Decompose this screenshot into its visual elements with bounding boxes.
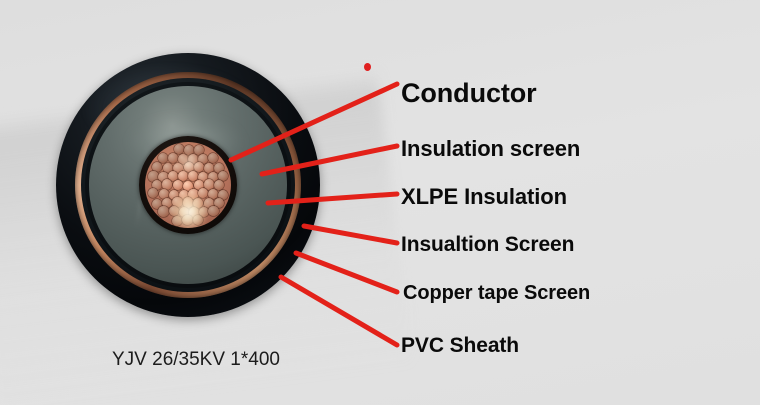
label-xlpe-insulation: XLPE Insulation: [401, 184, 567, 210]
figure-canvas: Conductor Insulation screen XLPE Insulat…: [0, 0, 760, 405]
conductor-strand: [168, 153, 178, 163]
conductor-strand: [173, 180, 183, 190]
figure-caption: YJV 26/35KV 1*400: [112, 349, 280, 371]
stray-red-dot-marker: [364, 63, 371, 71]
conductor-strand: [148, 188, 158, 198]
conductor-strand: [158, 153, 168, 163]
cable-cross-section-image: [56, 53, 320, 317]
conductor-strand: [208, 206, 218, 216]
label-copper-tape-screen: Copper tape Screen: [403, 282, 590, 305]
label-conductor: Conductor: [401, 78, 537, 109]
label-insulation-screen: Insulation screen: [401, 136, 580, 162]
conductor-strand: [214, 180, 224, 190]
conductor-highlight-top: [178, 154, 201, 173]
conductor-strand: [208, 153, 218, 163]
label-insualtion-screen: Insualtion Screen: [401, 233, 574, 257]
layer-conductor: [145, 142, 232, 229]
conductor-highlight-bottom: [171, 192, 207, 228]
label-pvc-sheath: PVC Sheath: [401, 334, 519, 358]
conductor-strand: [158, 206, 168, 216]
